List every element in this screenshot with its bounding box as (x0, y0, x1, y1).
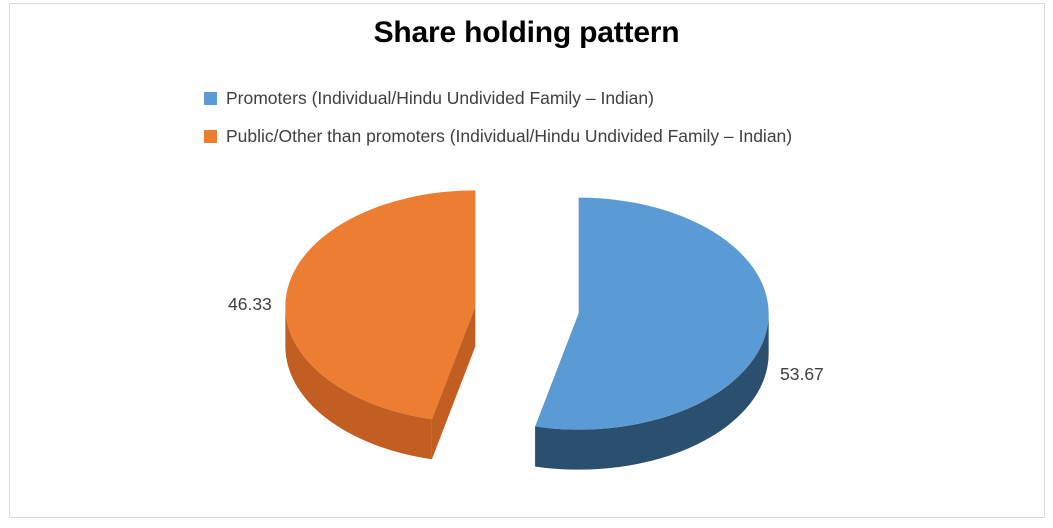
pie-plot-area (0, 170, 1053, 500)
legend-label-promoters: Promoters (Individual/Hindu Undivided Fa… (226, 88, 654, 109)
legend-item-promoters[interactable]: Promoters (Individual/Hindu Undivided Fa… (204, 84, 964, 112)
chart-container: Share holding pattern Promoters (Individ… (0, 0, 1053, 528)
legend-swatch-promoters-icon (204, 92, 217, 105)
pie-slice-public[interactable] (285, 190, 475, 459)
data-label-public: 46.33 (228, 294, 272, 315)
chart-legend: Promoters (Individual/Hindu Undivided Fa… (204, 84, 964, 160)
legend-swatch-public-icon (204, 130, 217, 143)
page-title: Share holding pattern (0, 16, 1053, 50)
legend-label-public: Public/Other than promoters (Individual/… (226, 126, 792, 147)
legend-item-public[interactable]: Public/Other than promoters (Individual/… (204, 122, 964, 150)
data-label-promoters: 53.67 (780, 364, 824, 385)
pie-chart-svg (0, 170, 1053, 500)
pie-slice-promoters[interactable] (535, 198, 768, 470)
